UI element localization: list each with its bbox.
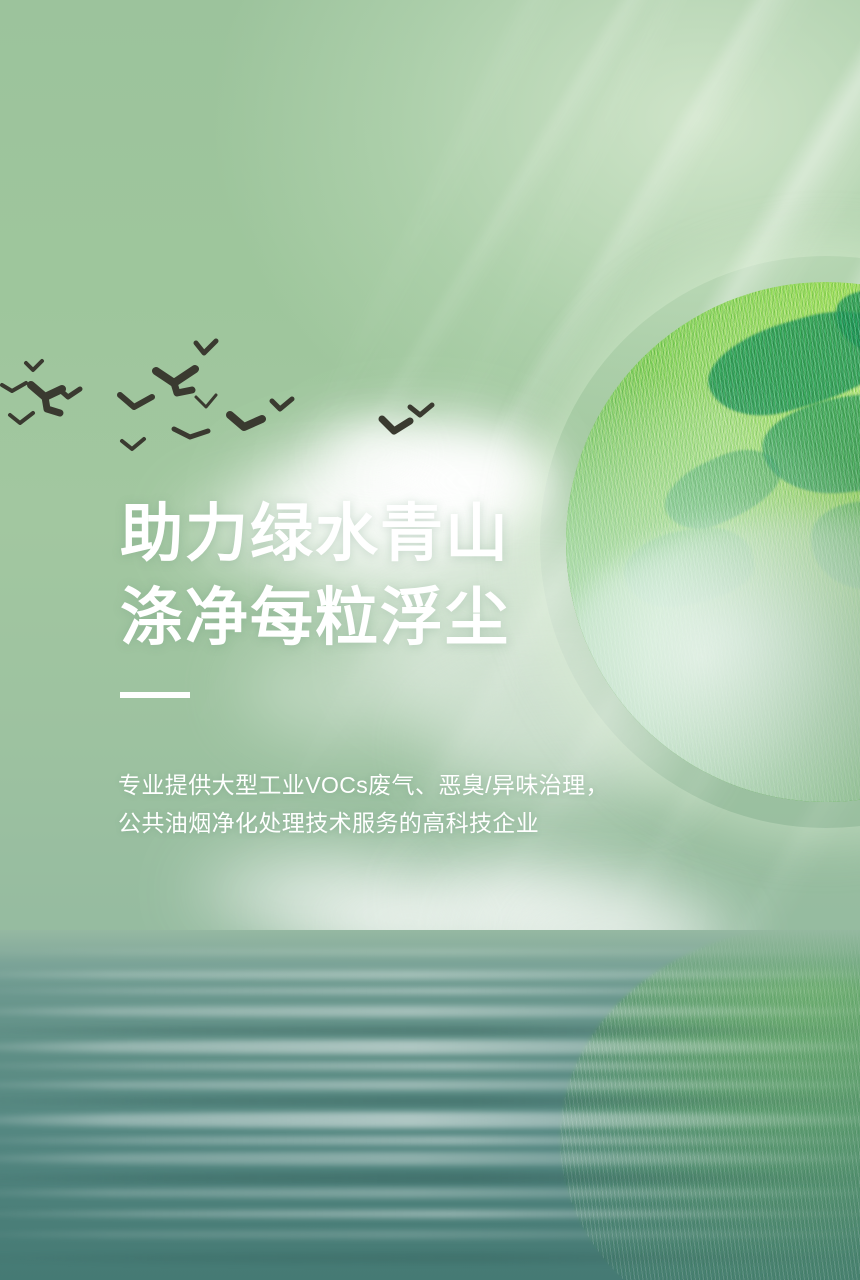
water-horizon-fade [0,930,860,990]
poster-canvas: 助力绿水青山 涤净每粒浮尘 专业提供大型工业VOCs废气、恶臭/异味治理， 公共… [0,0,860,1280]
subtitle-line-2: 公共油烟净化处理技术服务的高科技企业 [118,804,609,842]
headline-divider [120,692,190,698]
globe-sphere [566,282,860,802]
headline-line-2: 涤净每粒浮尘 [120,576,510,660]
subtitle-line-1: 专业提供大型工业VOCs废气、恶臭/异味治理， [118,766,609,804]
headline-line-1: 助力绿水青山 [120,492,510,576]
earth-globe [566,282,860,802]
flying-birds-flock [0,335,470,455]
subtitle: 专业提供大型工业VOCs废气、恶臭/异味治理， 公共油烟净化处理技术服务的高科技… [118,766,609,842]
water-surface [0,930,860,1280]
headline: 助力绿水青山 涤净每粒浮尘 [120,492,510,660]
